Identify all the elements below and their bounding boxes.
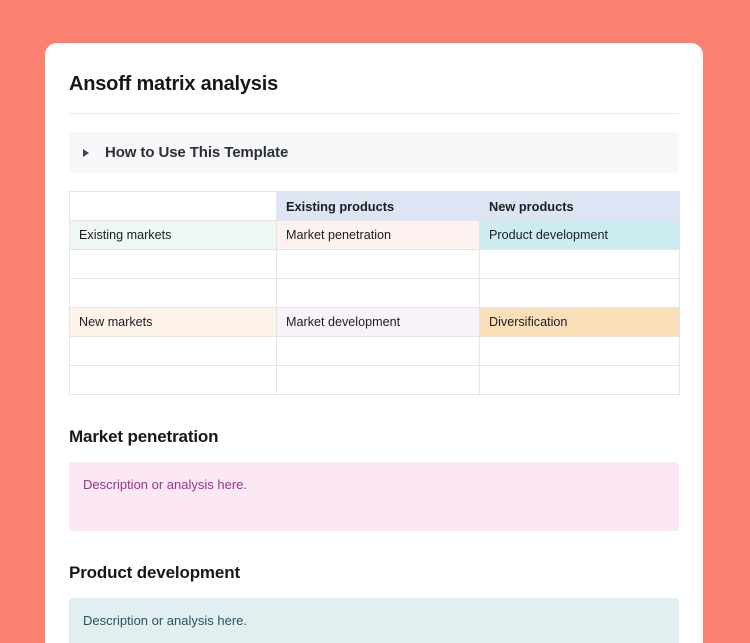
cell-empty[interactable]	[277, 337, 480, 366]
title-divider	[69, 113, 679, 114]
document-body: Ansoff matrix analysis How to Use This T…	[45, 43, 703, 643]
ansoff-matrix-table: Existing products New products Existing …	[69, 191, 680, 395]
section-heading-market-penetration: Market penetration	[69, 427, 679, 447]
how-to-use-label: How to Use This Template	[105, 144, 288, 161]
cell-empty[interactable]	[480, 250, 680, 279]
table-header-new-products: New products	[480, 192, 680, 221]
table-row	[70, 279, 680, 308]
document-card: Ansoff matrix analysis How to Use This T…	[45, 43, 703, 643]
description-text: Description or analysis here.	[83, 476, 665, 495]
table-row	[70, 337, 680, 366]
ansoff-matrix-table-wrapper: Existing products New products Existing …	[69, 191, 679, 395]
description-block-market-penetration[interactable]: Description or analysis here.	[69, 462, 679, 531]
how-to-use-collapsible[interactable]: How to Use This Template	[69, 132, 679, 173]
cell-empty[interactable]	[70, 366, 277, 395]
table-header-row: Existing products New products	[70, 192, 680, 221]
section-heading-product-development: Product development	[69, 563, 679, 583]
disclosure-triangle-collapsed-icon[interactable]	[83, 149, 89, 157]
cell-market-development[interactable]: Market development	[277, 308, 480, 337]
description-text: Description or analysis here.	[83, 612, 665, 631]
table-row: Existing markets Market penetration Prod…	[70, 221, 680, 250]
cell-empty[interactable]	[70, 337, 277, 366]
cell-existing-markets[interactable]: Existing markets	[70, 221, 277, 250]
table-row	[70, 366, 680, 395]
cell-empty[interactable]	[480, 366, 680, 395]
cell-new-markets[interactable]: New markets	[70, 308, 277, 337]
page-title: Ansoff matrix analysis	[69, 71, 679, 97]
cell-empty[interactable]	[480, 337, 680, 366]
cell-market-penetration[interactable]: Market penetration	[277, 221, 480, 250]
table-row: New markets Market development Diversifi…	[70, 308, 680, 337]
cell-diversification[interactable]: Diversification	[480, 308, 680, 337]
table-header-corner	[70, 192, 277, 221]
cell-empty[interactable]	[70, 279, 277, 308]
cell-product-development[interactable]: Product development	[480, 221, 680, 250]
cell-empty[interactable]	[277, 366, 480, 395]
cell-empty[interactable]	[277, 279, 480, 308]
cell-empty[interactable]	[480, 279, 680, 308]
cell-empty[interactable]	[277, 250, 480, 279]
cell-empty[interactable]	[70, 250, 277, 279]
table-header-existing-products: Existing products	[277, 192, 480, 221]
table-row	[70, 250, 680, 279]
description-block-product-development[interactable]: Description or analysis here.	[69, 598, 679, 643]
